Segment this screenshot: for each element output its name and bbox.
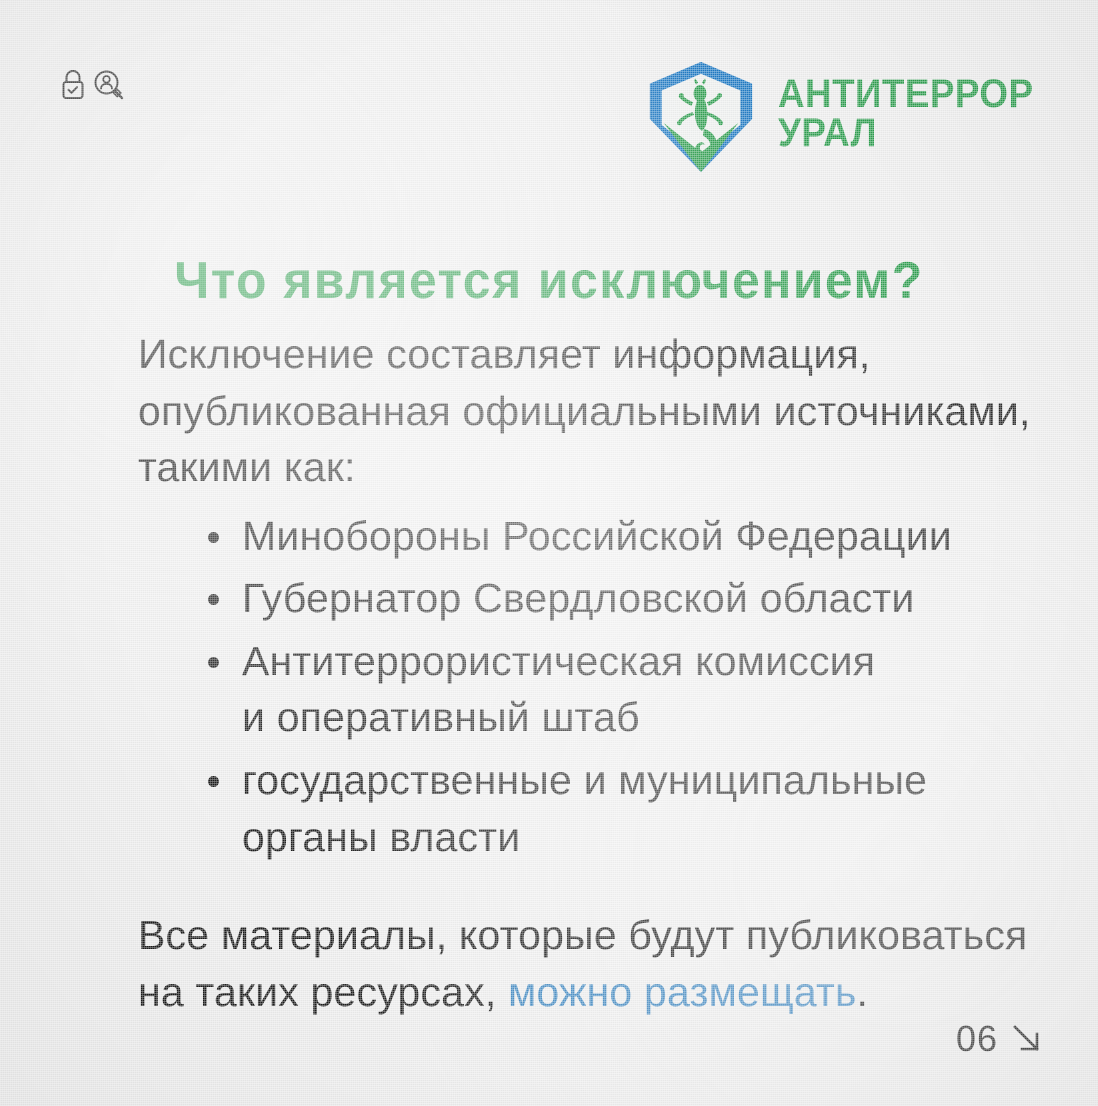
list-item-line: Минобороны Российской Федерации: [242, 508, 1038, 565]
slide-content: Исключение составляет информация, опубли…: [138, 326, 1038, 1020]
closing-text-after: .: [857, 969, 869, 1015]
lead-text: Исключение составляет информация, опубли…: [138, 326, 1038, 496]
header-icon-group: [58, 68, 126, 104]
closing-paragraph: Все материалы, которые будут публиковать…: [138, 907, 1038, 1020]
page-number-value: 06: [956, 1018, 998, 1060]
closing-text: Все материалы, которые будут публиковать…: [138, 907, 1038, 1020]
list-item: государственные и муниципальные органы в…: [206, 752, 1038, 865]
list-item: Минобороны Российской Федерации: [206, 508, 1038, 565]
lead-paragraph: Исключение составляет информация, опубли…: [138, 326, 1038, 496]
lock-check-icon: [58, 68, 88, 102]
list-item-line: Антитеррористическая комиссия: [242, 633, 1038, 690]
list-item-line: Губернатор Свердловской области: [242, 570, 1038, 627]
list-item: Губернатор Свердловской области: [206, 570, 1038, 627]
sources-list: Минобороны Российской Федерации Губернат…: [138, 508, 1038, 865]
list-item-line: государственные и муниципальные: [242, 752, 1038, 809]
user-search-icon: [92, 68, 126, 104]
list-item: Антитеррористическая комиссия и оператив…: [206, 633, 1038, 746]
list-item-line: органы власти: [242, 809, 1038, 866]
slide-root: АНТИТЕРРОР УРАЛ Что является исключением…: [0, 0, 1098, 1106]
brand-logo: АНТИТЕРРОР УРАЛ: [642, 58, 1056, 176]
page-title: Что является исключением?: [22, 251, 1076, 311]
page-number: 06: [956, 1018, 1044, 1060]
shield-lizard-logo: [642, 58, 760, 176]
brand-line-2: УРАЛ: [778, 114, 1033, 153]
brand-line-1: АНТИТЕРРОР: [778, 75, 1033, 114]
list-item-line: и оперативный штаб: [242, 689, 1038, 746]
arrow-down-right-icon: [1010, 1022, 1044, 1056]
closing-accent-phrase: можно размещать: [508, 969, 857, 1015]
brand-wordmark: АНТИТЕРРОР УРАЛ: [778, 75, 1056, 159]
